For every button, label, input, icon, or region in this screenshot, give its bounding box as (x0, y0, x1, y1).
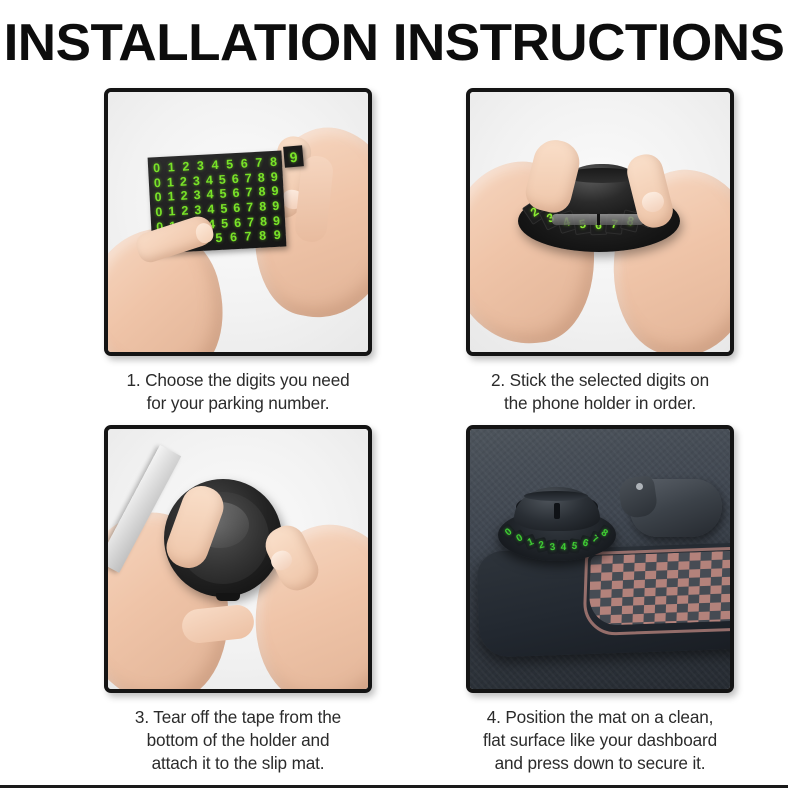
sticker-digit: 9 (273, 214, 281, 227)
peeled-digit-value: 9 (289, 148, 298, 165)
sticker-digit: 8 (260, 215, 268, 228)
step-1: 0 1 2 3 4 5 6 7 8 0 1 2 3 4 5 6 (88, 88, 388, 415)
sticker-digit: 8 (259, 230, 267, 243)
sticker-digit: 4 (206, 189, 214, 202)
sticker-digit: 6 (230, 231, 238, 244)
caption-line: for your parking number. (88, 392, 388, 415)
sticker-digit: 3 (193, 189, 201, 202)
sticker-digit: 5 (219, 173, 227, 186)
sticker-digit: 7 (255, 157, 263, 170)
sticker-digit: 4 (211, 159, 219, 172)
holder-bottom-tab (216, 593, 240, 601)
sticker-digit: 4 (207, 203, 215, 216)
sunglasses-hinge (636, 483, 643, 490)
sticker-digit: 1 (167, 176, 175, 189)
holder-dome-lip (524, 491, 588, 501)
holder-slot-divider (597, 214, 600, 225)
sticker-digit: 7 (245, 187, 253, 200)
holder-digit-arc: 0 0 1 2 3 4 5 6 7 8 (498, 507, 616, 551)
holder-digit: 4 (558, 540, 569, 554)
step-2: 2 3 4 5 6 7 8 9 9 2. Stick the selected … (450, 88, 750, 415)
sticker-digit: 7 (246, 201, 254, 214)
step-3-caption: 3. Tear off the tape from the bottom of … (88, 706, 388, 775)
sticker-digit: 6 (232, 173, 240, 186)
sticker-digit: 6 (240, 157, 248, 170)
sticker-digit: 9 (274, 229, 282, 242)
page-title: INSTALLATION INSTRUCTIONS (0, 16, 788, 71)
sticker-digit: 3 (194, 204, 202, 217)
caption-line: 1. Choose the digits you need (88, 369, 388, 392)
caption-line: the phone holder in order. (450, 392, 750, 415)
sticker-digit: 9 (270, 171, 278, 184)
sticker-digit: 1 (167, 191, 175, 204)
caption-line: bottom of the holder and (88, 729, 388, 752)
sticker-digit: 8 (259, 200, 267, 213)
sunglasses (622, 477, 726, 539)
sticker-digit: 5 (215, 232, 223, 245)
caption-line: and press down to secure it. (450, 752, 750, 775)
sticker-digit: 0 (153, 162, 161, 175)
slip-mat (476, 542, 734, 658)
mat-checker-pattern (588, 550, 734, 626)
sticker-digit: 5 (226, 158, 234, 171)
sticker-digit: 6 (233, 202, 241, 215)
sticker-digit: 1 (167, 161, 175, 174)
sticker-digit: 6 (234, 216, 242, 229)
step-4-caption: 4. Position the mat on a clean, flat sur… (450, 706, 750, 775)
sticker-digit: 3 (197, 160, 205, 173)
sticker-digit: 8 (258, 186, 266, 199)
sticker-digit: 1 (168, 205, 176, 218)
step-2-photo: 2 3 4 5 6 7 8 9 9 (466, 88, 734, 356)
caption-line: attach it to the slip mat. (88, 752, 388, 775)
step-4-photo: 0 0 1 2 3 4 5 6 7 8 (466, 425, 734, 693)
peeled-digit-sticker: 9 (283, 145, 304, 168)
sticker-digit: 7 (244, 231, 252, 244)
sticker-digit: 5 (221, 217, 229, 230)
sticker-digit: 3 (193, 175, 201, 188)
sticker-digit: 6 (232, 187, 240, 200)
step-3: 3. Tear off the tape from the bottom of … (88, 425, 388, 775)
step-4: 0 0 1 2 3 4 5 6 7 8 4. Position the mat … (450, 425, 750, 775)
caption-line: 3. Tear off the tape from the (88, 706, 388, 729)
step-2-caption: 2. Stick the selected digits on the phon… (450, 369, 750, 415)
phone-holder-device: 0 0 1 2 3 4 5 6 7 8 (498, 487, 616, 559)
caption-line: 4. Position the mat on a clean, (450, 706, 750, 729)
installation-steps-grid: 0 1 2 3 4 5 6 7 8 0 1 2 3 4 5 6 (0, 88, 788, 774)
sticker-digit: 8 (257, 171, 265, 184)
sticker-digit: 7 (244, 172, 252, 185)
sticker-digit: 4 (206, 174, 214, 187)
sticker-digit: 5 (220, 203, 228, 216)
sticker-digit: 2 (182, 161, 190, 174)
sticker-digit: 0 (154, 191, 162, 204)
sticker-digit: 2 (181, 205, 189, 218)
sticker-digit: 9 (272, 200, 280, 213)
sticker-digit: 2 (180, 175, 188, 188)
sticker-digit: 8 (270, 156, 278, 169)
sticker-digit: 9 (271, 185, 279, 198)
sticker-digit: 0 (155, 206, 163, 219)
step-3-photo (104, 425, 372, 693)
sticker-digit: 2 (180, 190, 188, 203)
sticker-digit: 7 (247, 216, 255, 229)
sticker-digit: 5 (219, 188, 227, 201)
step-1-photo: 0 1 2 3 4 5 6 7 8 0 1 2 3 4 5 6 (104, 88, 372, 356)
sticker-digit: 0 (154, 177, 162, 190)
caption-line: flat surface like your dashboard (450, 729, 750, 752)
step-1-caption: 1. Choose the digits you need for your p… (88, 369, 388, 415)
caption-line: 2. Stick the selected digits on (450, 369, 750, 392)
